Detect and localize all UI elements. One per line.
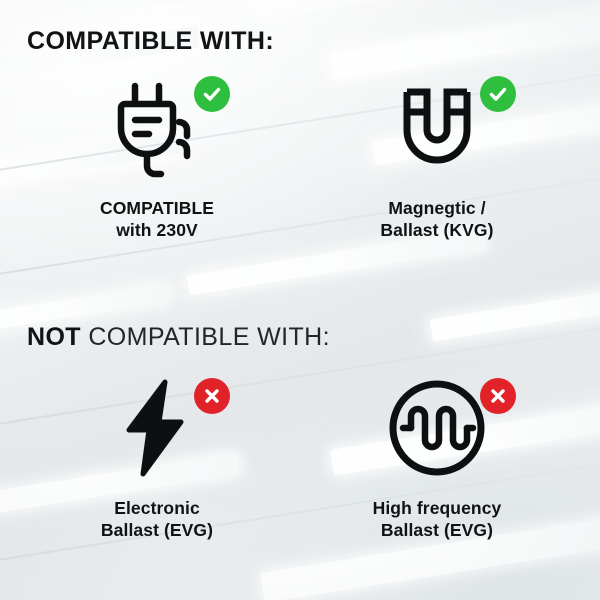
icon-area bbox=[322, 72, 552, 184]
heading-not-rest: COMPATIBLE WITH: bbox=[81, 323, 330, 351]
heading-not-compatible: NOT COMPATIBLE WITH: bbox=[27, 323, 330, 352]
item-caption-line2: with 230V bbox=[42, 219, 272, 241]
item-caption-line2: Ballast (EVG) bbox=[322, 519, 552, 541]
item-caption-line1: High frequency bbox=[373, 498, 502, 518]
item-compatible-magnetic-ballast: Magnegtic / Ballast (KVG) bbox=[322, 72, 552, 242]
check-icon bbox=[201, 83, 223, 105]
heading-not-strong: NOT bbox=[27, 323, 81, 351]
item-not-compatible-high-frequency-ballast: High frequency Ballast (EVG) bbox=[322, 372, 552, 542]
item-caption: Electronic Ballast (EVG) bbox=[42, 497, 272, 542]
cross-badge bbox=[480, 378, 516, 414]
item-caption-line1: Electronic bbox=[114, 498, 200, 518]
item-caption-line1: Magnegtic / bbox=[388, 198, 485, 218]
item-caption-line2: Ballast (EVG) bbox=[42, 519, 272, 541]
high-frequency-coil-icon bbox=[385, 376, 489, 480]
item-caption-line1: COMPATIBLE bbox=[100, 198, 214, 218]
item-not-compatible-electronic-ballast: Electronic Ballast (EVG) bbox=[42, 372, 272, 542]
cross-badge bbox=[194, 378, 230, 414]
item-caption: High frequency Ballast (EVG) bbox=[322, 497, 552, 542]
check-icon bbox=[487, 83, 509, 105]
compatibility-infographic: COMPATIBLE WITH: bbox=[0, 0, 600, 600]
icon-area bbox=[322, 372, 552, 484]
item-compatible-230v: COMPATIBLE with 230V bbox=[42, 72, 272, 242]
icon-area bbox=[42, 372, 272, 484]
heading-compatible-rest: WITH: bbox=[193, 27, 275, 55]
cross-icon bbox=[488, 386, 508, 406]
lightning-bolt-icon bbox=[109, 376, 205, 480]
heading-compatible-strong: COMPATIBLE bbox=[27, 27, 193, 55]
heading-compatible: COMPATIBLE WITH: bbox=[27, 27, 274, 56]
item-caption-line2: Ballast (KVG) bbox=[322, 219, 552, 241]
magnet-icon bbox=[387, 78, 487, 178]
check-badge bbox=[480, 76, 516, 112]
icon-area bbox=[42, 72, 272, 184]
check-badge bbox=[194, 76, 230, 112]
item-caption: Magnegtic / Ballast (KVG) bbox=[322, 197, 552, 242]
cross-icon bbox=[202, 386, 222, 406]
item-caption: COMPATIBLE with 230V bbox=[42, 197, 272, 242]
